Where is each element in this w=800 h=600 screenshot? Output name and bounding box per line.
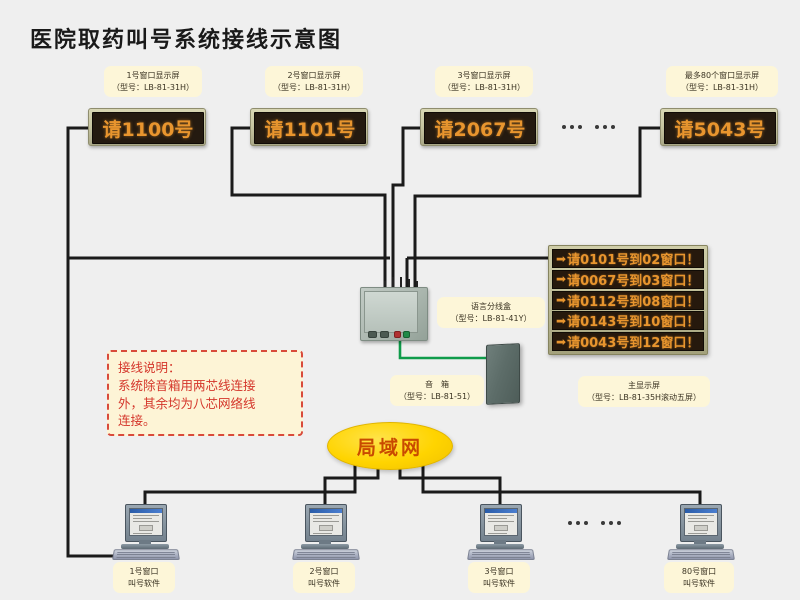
computer-80[interactable] [666, 504, 734, 560]
voice-junction-box[interactable] [360, 287, 426, 339]
caption-junction-box: 语言分线盒 （型号：LB-81-41Y） [437, 297, 545, 328]
led-screen-3: 请2067号 [424, 112, 536, 144]
main-led-row: ➡ 请0112号到08窗口！ [552, 291, 704, 310]
arrow-icon: ➡ [556, 336, 566, 348]
lan-node[interactable]: 局域网 [327, 422, 453, 470]
led-screen-1: 请1100号 [92, 112, 204, 144]
led-screen-2: 请1101号 [254, 112, 366, 144]
ellipsis-computers [568, 521, 621, 525]
monitor-1 [125, 504, 167, 542]
caption-computer-80: 80号窗口 叫号软件 [664, 562, 734, 593]
screen-3 [484, 508, 518, 536]
ellipsis-displays [562, 125, 615, 129]
caption-display-80: 最多80个窗口显示屏 （型号：LB-81-31H） [666, 66, 778, 97]
wire-display-2 [232, 128, 385, 295]
junction-port-audio [403, 331, 410, 338]
computer-2[interactable] [291, 504, 359, 560]
wire-display-1 [68, 128, 390, 258]
wiring-note-box: 接线说明： 系统除音箱用两芯线连接 外，其余均为八芯网络线 连接。 [107, 350, 303, 436]
monitor-2 [305, 504, 347, 542]
caption-display-1: 1号窗口显示屏 （型号：LB-81-31H） [104, 66, 202, 97]
caption-speaker: 音 箱 （型号：LB-81-51） [390, 375, 484, 406]
main-led-row: ➡ 请0043号到12窗口！ [552, 332, 704, 351]
led-display-window-3[interactable]: 请2067号 [420, 108, 538, 146]
wire-speaker-audio [400, 338, 487, 358]
arrow-icon: ➡ [556, 253, 566, 265]
caption-computer-3: 3号窗口 叫号软件 [468, 562, 530, 593]
led-display-window-1[interactable]: 请1100号 [88, 108, 206, 146]
computer-1[interactable] [111, 504, 179, 560]
arrow-icon: ➡ [556, 294, 566, 306]
note-line-2: 系统除音箱用两芯线连接 [118, 377, 292, 395]
diagram-canvas: 医院取药叫号系统接线示意图 1号窗口显示屏 [0, 0, 800, 600]
arrow-icon: ➡ [556, 273, 566, 285]
main-led-display[interactable]: ➡ 请0101号到02窗口！ ➡ 请0067号到03窗口！ ➡ 请0112号到0… [548, 245, 708, 355]
note-line-4: 连接。 [118, 412, 292, 430]
lan-label: 局域网 [357, 433, 423, 460]
screen-80 [684, 508, 718, 536]
caption-computer-2: 2号窗口 叫号软件 [293, 562, 355, 593]
junction-port-power [394, 331, 401, 338]
speaker-device[interactable] [486, 343, 520, 405]
main-led-row: ➡ 请0067号到03窗口！ [552, 270, 704, 289]
screen-1 [129, 508, 163, 536]
screen-2 [309, 508, 343, 536]
main-led-row: ➡ 请0143号到10窗口！ [552, 311, 704, 330]
caption-display-2: 2号窗口显示屏 （型号：LB-81-31H） [265, 66, 363, 97]
note-line-3: 外，其余均为八芯网络线 [118, 395, 292, 413]
arrow-icon: ➡ [556, 315, 566, 327]
led-display-window-2[interactable]: 请1101号 [250, 108, 368, 146]
keyboard-1 [112, 549, 180, 560]
keyboard-3 [467, 549, 535, 560]
wire-lan-to-pc80 [423, 465, 700, 512]
keyboard-2 [292, 549, 360, 560]
monitor-3 [480, 504, 522, 542]
caption-main-display: 主显示屏 （型号：LB-81-35H滚动五屏） [578, 376, 710, 407]
junction-port [368, 331, 377, 338]
caption-display-3: 3号窗口显示屏 （型号：LB-81-31H） [435, 66, 533, 97]
main-led-row: ➡ 请0101号到02窗口！ [552, 249, 704, 268]
note-line-1: 接线说明： [118, 359, 292, 377]
keyboard-80 [667, 549, 735, 560]
led-display-window-80[interactable]: 请5043号 [660, 108, 778, 146]
led-screen-80: 请5043号 [664, 112, 776, 144]
computer-3[interactable] [466, 504, 534, 560]
caption-computer-1: 1号窗口 叫号软件 [113, 562, 175, 593]
monitor-80 [680, 504, 722, 542]
junction-port [380, 331, 389, 338]
